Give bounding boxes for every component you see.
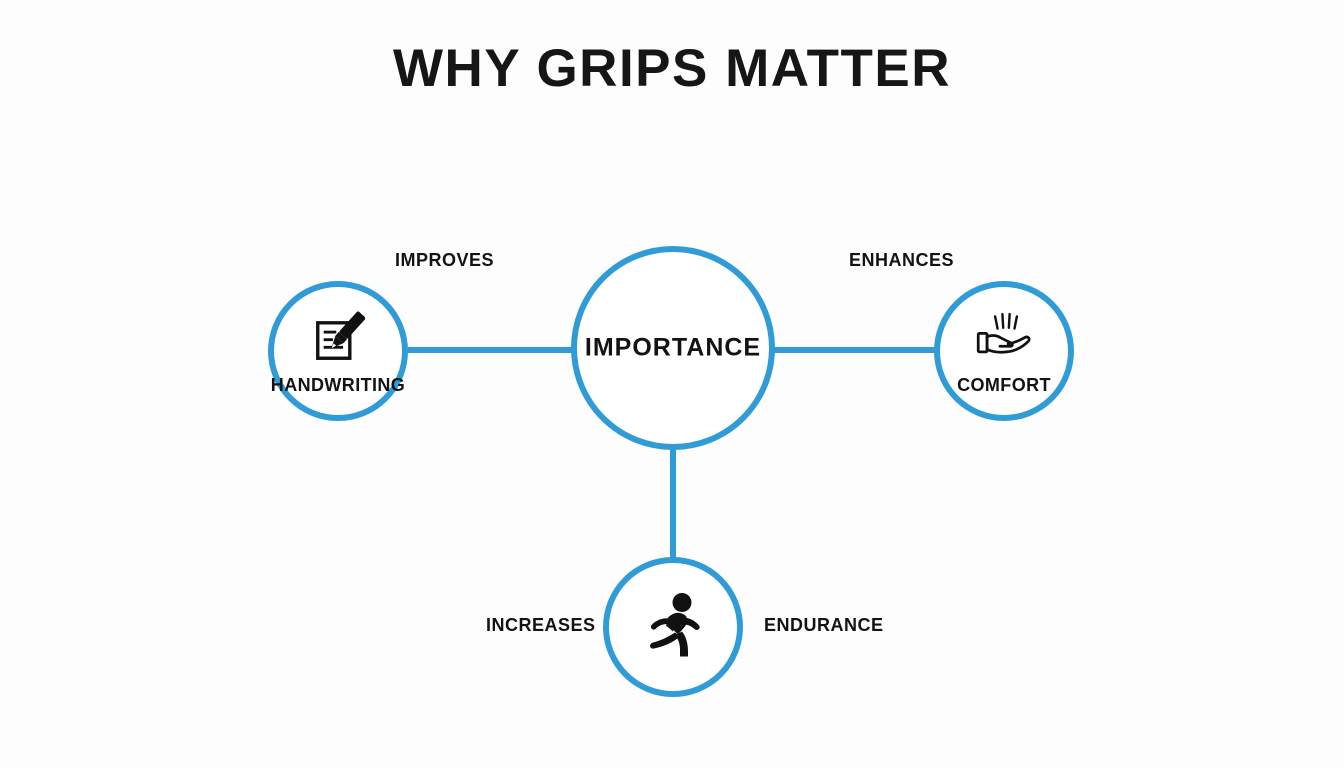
- edge-label-endurance: ENDURANCE: [764, 615, 884, 636]
- pen-writing-on-document-icon: [311, 311, 365, 370]
- running-person-icon: [642, 592, 704, 663]
- node-handwriting-label: HANDWRITING: [271, 375, 405, 396]
- node-importance[interactable]: IMPORTANCE: [571, 246, 775, 450]
- edge-label-enhances: ENHANCES: [849, 250, 954, 271]
- open-hand-comfort-icon: [975, 311, 1033, 364]
- node-endurance[interactable]: [603, 557, 743, 697]
- node-handwriting[interactable]: HANDWRITING: [268, 281, 408, 421]
- node-comfort-label: COMFORT: [957, 375, 1051, 396]
- edge-label-increases: INCREASES: [486, 615, 596, 636]
- page-title: WHY GRIPS MATTER: [0, 40, 1344, 98]
- node-importance-label: IMPORTANCE: [585, 334, 761, 363]
- diagram-canvas: WHY GRIPS MATTER IMPROVES ENHANCES INCRE…: [0, 0, 1344, 768]
- node-comfort[interactable]: COMFORT: [934, 281, 1074, 421]
- edge-label-improves: IMPROVES: [395, 250, 494, 271]
